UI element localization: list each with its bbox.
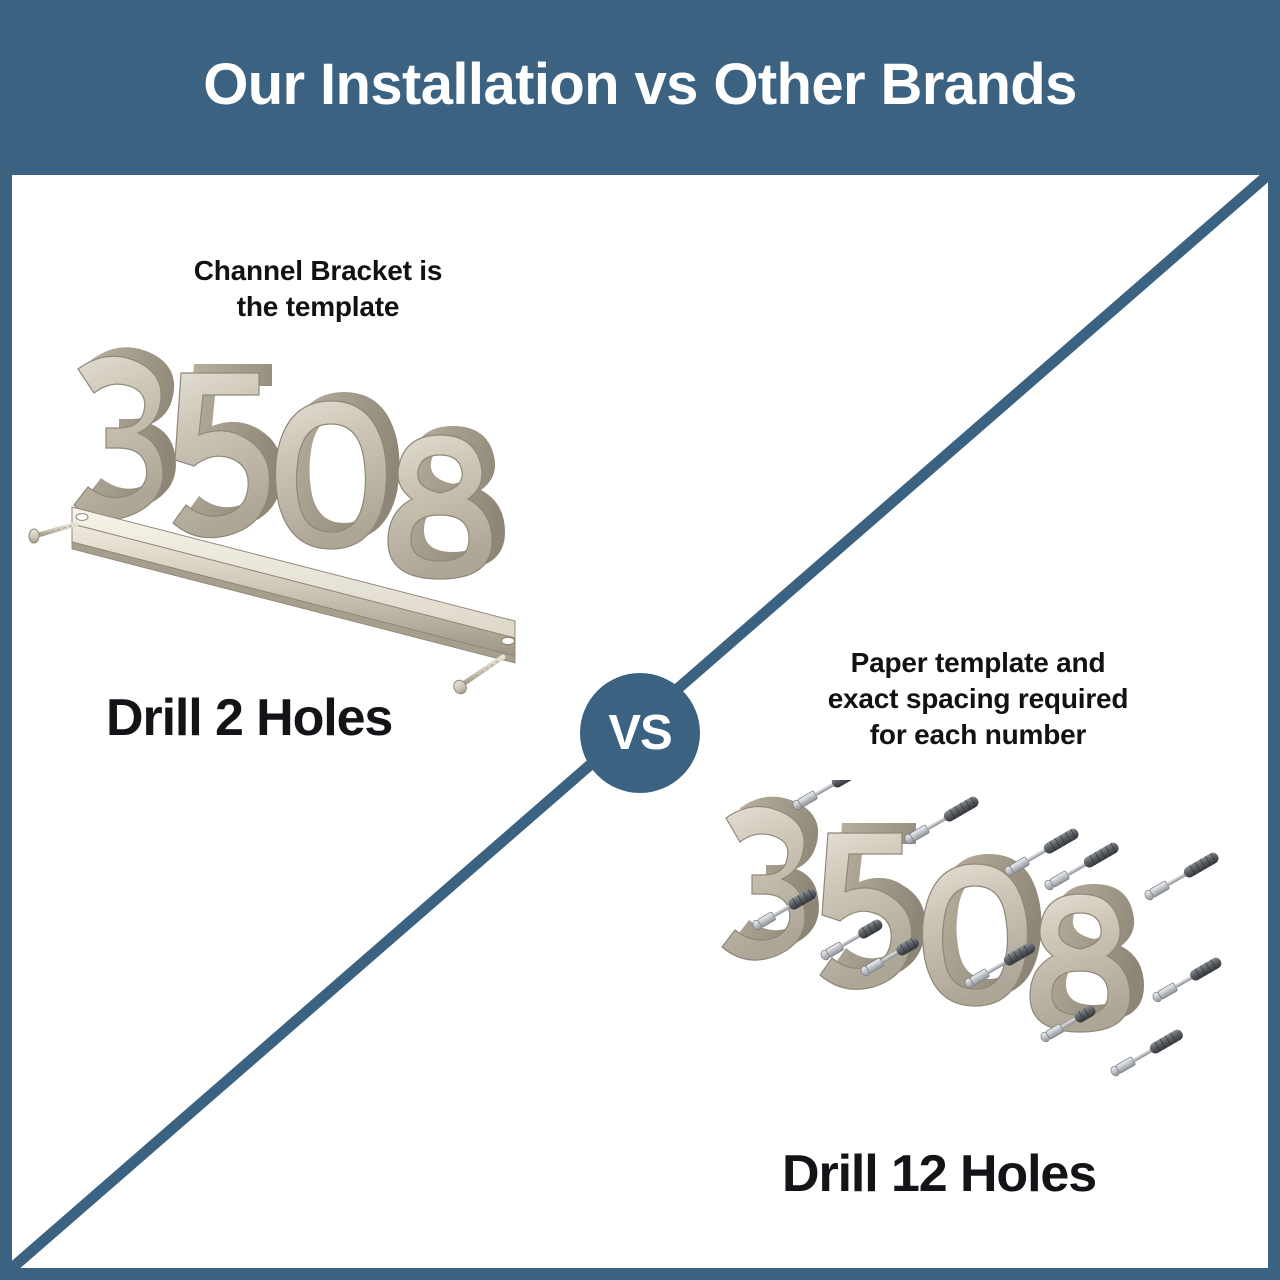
infographic-root: Our Installation vs Other Brands Channel… bbox=[0, 0, 1280, 1280]
right-panel-headline: Drill 12 Holes bbox=[782, 1148, 1096, 1200]
right-caption-line-1: Paper template and bbox=[768, 645, 1188, 681]
mounting-screw-2 bbox=[451, 657, 503, 695]
house-number-3508-exploded bbox=[722, 797, 1144, 1032]
right-caption-line-3: for each number bbox=[768, 717, 1188, 753]
page-title: Our Installation vs Other Brands bbox=[203, 56, 1077, 114]
mounting-screw-1 bbox=[29, 524, 76, 543]
left-panel-headline: Drill 2 Holes bbox=[106, 692, 392, 744]
right-panel-caption: Paper template and exact spacing require… bbox=[768, 645, 1188, 752]
individual-studs-product-image bbox=[692, 780, 1232, 1125]
left-caption-line-1: Channel Bracket is bbox=[118, 253, 518, 289]
vs-label: VS bbox=[608, 709, 671, 758]
channel-bracket-illustration bbox=[20, 345, 560, 695]
channel-bracket-product-image bbox=[20, 345, 560, 695]
comparison-frame: Channel Bracket is the template bbox=[7, 170, 1273, 1273]
vs-badge: VS bbox=[580, 673, 700, 793]
mounting-studs-group bbox=[751, 780, 1223, 1078]
exploded-numbers-illustration bbox=[692, 780, 1232, 1125]
right-caption-line-2: exact spacing required bbox=[768, 681, 1188, 717]
left-panel-caption: Channel Bracket is the template bbox=[118, 253, 518, 325]
header-band: Our Installation vs Other Brands bbox=[0, 0, 1280, 170]
left-caption-line-2: the template bbox=[118, 289, 518, 325]
